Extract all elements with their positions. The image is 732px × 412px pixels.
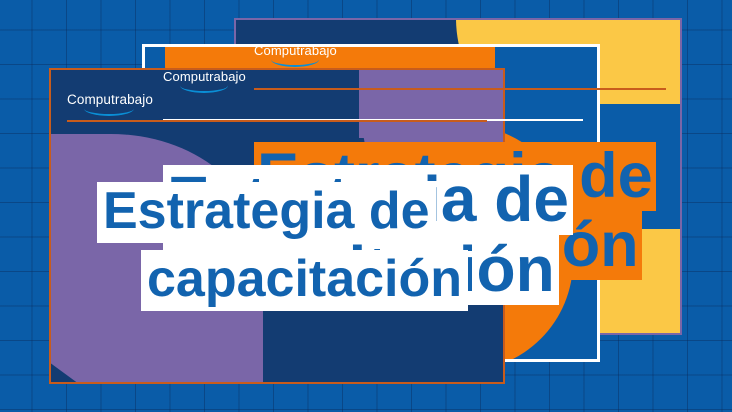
title-line-1: Estrategia de [97,182,436,243]
swoosh-icon [84,107,134,116]
slide-card-front[interactable]: Computrabajo Estrategia de capacitación [49,68,505,384]
brand-logo-back: Computrabajo [254,43,337,58]
brand-logo-text: Computrabajo [67,92,153,107]
brand-logo-text: Computrabajo [254,43,337,58]
title-line-2: capacitación [141,250,468,311]
slide-title-front: Estrategia de capacitación [97,182,503,311]
divider-rule-front [67,120,487,122]
brand-logo-text: Computrabajo [163,69,246,84]
brand-logo-middle: Computrabajo [163,69,246,84]
brand-logo-front: Computrabajo [67,92,153,107]
divider-rule-back [254,88,666,90]
